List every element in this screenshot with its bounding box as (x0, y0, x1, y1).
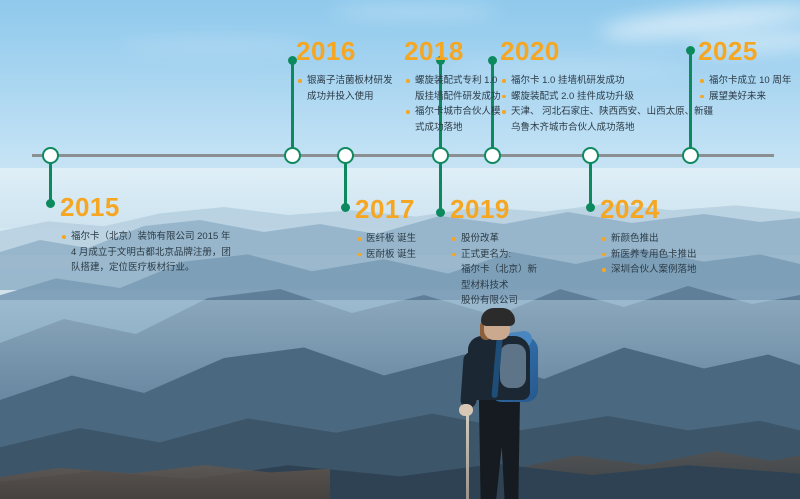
bullet-item: 展望美好未来 (698, 89, 800, 105)
cloud-decoration (120, 40, 310, 52)
timeline-node-2018[interactable] (432, 147, 449, 164)
year-label-2024: 2024 (600, 196, 750, 222)
stem-cap-2017 (341, 203, 350, 212)
bullet-item: 福尔卡（北京）装饰有限公司 2015 年 (60, 229, 240, 245)
stem-cap-2024 (586, 203, 595, 212)
bullet-item: 正式更名为: (450, 247, 570, 263)
timeline-node-2016[interactable] (284, 147, 301, 164)
bullet-item: 福尔卡 1.0 挂墙机研发成功 (500, 73, 690, 89)
timeline-node-2017[interactable] (337, 147, 354, 164)
bullet-item: 福尔卡成立 10 周年 (698, 73, 800, 89)
bullet-item-cont: 乌鲁木齐城市合伙人成功落地 (500, 120, 690, 136)
backpack-panel (500, 344, 526, 388)
stem-2017 (344, 157, 347, 207)
bullet-item: 新医养专用色卡推出 (600, 247, 750, 263)
timeline-node-2025[interactable] (682, 147, 699, 164)
stem-cap-2015 (46, 199, 55, 208)
cloud-decoration (330, 4, 500, 18)
timeline-infographic: 2015 福尔卡（北京）装饰有限公司 2015 年 4 月成立于文明古都北京品牌… (0, 0, 800, 499)
bullet-list-2020: 福尔卡 1.0 挂墙机研发成功 螺旋装配式 2.0 挂件成功升级 天津、 河北石… (500, 73, 690, 135)
hiker-hand (459, 404, 473, 416)
milestone-2020: 2020 福尔卡 1.0 挂墙机研发成功 螺旋装配式 2.0 挂件成功升级 天津… (500, 38, 690, 135)
hiker-legs (476, 390, 522, 499)
bullet-list-2015: 福尔卡（北京）装饰有限公司 2015 年 4 月成立于文明古都北京品牌注册，团 … (60, 229, 240, 276)
year-label-2019: 2019 (450, 196, 570, 222)
year-label-2020: 2020 (500, 38, 690, 64)
bullet-list-2019: 股份改革 正式更名为: 福尔卡（北京）新型材料技术 股份有限公司 (450, 231, 570, 309)
bullet-item: 天津、 河北石家庄、陕西西安、山西太原、新疆 (500, 104, 690, 120)
bullet-item-cont: 4 月成立于文明古都北京品牌注册，团 (60, 245, 240, 261)
bullet-item: 螺旋装配式 2.0 挂件成功升级 (500, 89, 690, 105)
trekking-pole (466, 408, 469, 499)
milestone-2025: 2025 福尔卡成立 10 周年 展望美好未来 (698, 38, 800, 104)
bullet-item: 深圳合伙人案例落地 (600, 262, 750, 278)
bullet-item-cont: 福尔卡（北京）新型材料技术 (450, 262, 539, 293)
timeline-node-2024[interactable] (582, 147, 599, 164)
stem-2024 (589, 157, 592, 207)
bullet-item-cont: 股份有限公司 (450, 293, 570, 309)
timeline-node-2020[interactable] (484, 147, 501, 164)
bullet-list-2024: 新颜色推出 新医养专用色卡推出 深圳合伙人案例落地 (600, 231, 750, 278)
bullet-item: 股份改革 (450, 231, 570, 247)
hiker-figure (440, 308, 560, 499)
milestone-2024: 2024 新颜色推出 新医养专用色卡推出 深圳合伙人案例落地 (600, 196, 750, 278)
milestone-2015: 2015 福尔卡（北京）装饰有限公司 2015 年 4 月成立于文明古都北京品牌… (60, 194, 240, 276)
hiker-hat (481, 308, 515, 326)
year-label-2015: 2015 (60, 194, 240, 220)
bullet-list-2025: 福尔卡成立 10 周年 展望美好未来 (698, 73, 800, 104)
milestone-2019: 2019 股份改革 正式更名为: 福尔卡（北京）新型材料技术 股份有限公司 (450, 196, 570, 309)
bullet-item-cont: 队搭建，定位医疗板材行业。 (60, 260, 240, 276)
timeline-node-2015[interactable] (42, 147, 59, 164)
stem-2016 (291, 60, 294, 154)
timeline-axis (32, 154, 774, 157)
bullet-item: 新颜色推出 (600, 231, 750, 247)
year-label-2025: 2025 (698, 38, 800, 64)
